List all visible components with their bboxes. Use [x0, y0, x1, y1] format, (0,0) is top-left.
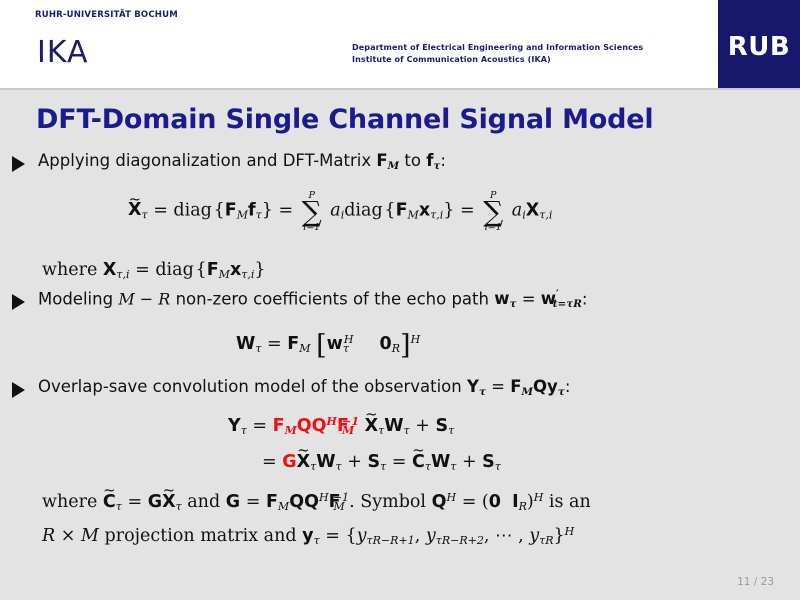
bullet-2-equals: =: [522, 289, 536, 308]
bullet-3-rhs: FMQyτ: [510, 377, 565, 396]
bullet-1-mid: to: [404, 151, 421, 170]
ika-logo: IKA: [37, 38, 89, 68]
bullet-triangle-icon: [12, 382, 25, 398]
slide-header: RUHR-UNIVERSITÄT BOCHUM IKA Department o…: [0, 0, 800, 88]
equation-3-line-2: = G~XτWτ + Sτ = ~CτWτ + Sτ: [262, 452, 501, 472]
bullet-1-symbol-F: FM: [376, 151, 399, 170]
bullet-1-text: Applying diagonalization and DFT-Matrix …: [38, 152, 446, 171]
bullet-item-2: Modeling M − R non-zero coefficients of …: [12, 290, 587, 310]
bullet-2-text: Modeling M − R non-zero coefficients of …: [38, 290, 587, 309]
bullet-triangle-icon: [12, 294, 25, 310]
bullet-3-text: Overlap-save convolution model of the ob…: [38, 378, 570, 397]
summation-1: P ∑ i=1: [302, 191, 322, 233]
bullet-1-symbol-f: fτ: [426, 151, 440, 170]
bullet-2-symbol-w: wτ: [494, 289, 516, 308]
is-an-label: is an: [549, 492, 591, 512]
page-title: DFT-Domain Single Channel Signal Model: [36, 104, 653, 135]
department-line-1: Department of Electrical Engineering and…: [352, 42, 643, 54]
highlighted-term-2: G: [282, 452, 296, 472]
and-label: and: [187, 492, 220, 512]
bullet-2-rhs: w′t=τR: [541, 289, 582, 308]
bullet-3-suffix: :: [565, 377, 571, 396]
page-number: 11 / 23: [737, 576, 774, 588]
where-label-2: where: [42, 492, 97, 512]
closing-line-1: where ~Cτ = G~Xτ and G = FMQQHFM−1. Symb…: [42, 492, 591, 512]
summation-2: P ∑ i=1: [483, 191, 503, 233]
bullet-2-expr: M − R: [118, 289, 170, 308]
bullet-1-prefix: Applying diagonalization and DFT-Matrix: [38, 151, 371, 170]
department-info: Department of Electrical Engineering and…: [352, 42, 643, 65]
highlighted-term-1: FMQQHFM−1: [273, 416, 359, 436]
symbol-label: Symbol: [360, 492, 426, 512]
university-name: RUHR-UNIVERSITÄT BOCHUM: [35, 10, 178, 20]
bullet-3-equals: =: [491, 377, 505, 396]
bullet-triangle-icon: [12, 156, 25, 172]
where-label-1: where: [42, 260, 97, 280]
equation-3-line-1: Yτ = FMQQHFM−1 ~XτWτ + Sτ: [228, 416, 454, 436]
bullet-3-prefix: Overlap-save convolution model of the ob…: [38, 377, 462, 396]
equation-1: ~Xτ = diag {FMfτ} = P ∑ i=1 aidiag {FMxτ…: [128, 190, 552, 232]
slide-body: DFT-Domain Single Channel Signal Model A…: [0, 90, 800, 600]
bullet-2-suffix: :: [582, 289, 588, 308]
bullet-2-prefix: Modeling: [38, 289, 113, 308]
department-line-2: Institute of Communication Acoustics (IK…: [352, 54, 643, 66]
projection-label: projection matrix and: [105, 526, 297, 546]
closing-line-2: R × M projection matrix and yτ = {yτR−R+…: [42, 526, 574, 546]
equation-2: Wτ = FM [wτH0R]H: [236, 330, 420, 361]
bullet-2-mid: non-zero coefficients of the echo path: [176, 289, 489, 308]
bullet-item-3: Overlap-save convolution model of the ob…: [12, 378, 570, 398]
bullet-item-1: Applying diagonalization and DFT-Matrix …: [12, 152, 446, 172]
rub-logo-text: RUB: [718, 32, 800, 62]
bullet-1-suffix: :: [440, 151, 446, 170]
bullet-3-symbol-Y: Yτ: [467, 377, 486, 396]
rub-logo-box: RUB: [718, 0, 800, 88]
equation-1-where: where Xτ,i = diag {FMxτ,i}: [42, 260, 266, 280]
